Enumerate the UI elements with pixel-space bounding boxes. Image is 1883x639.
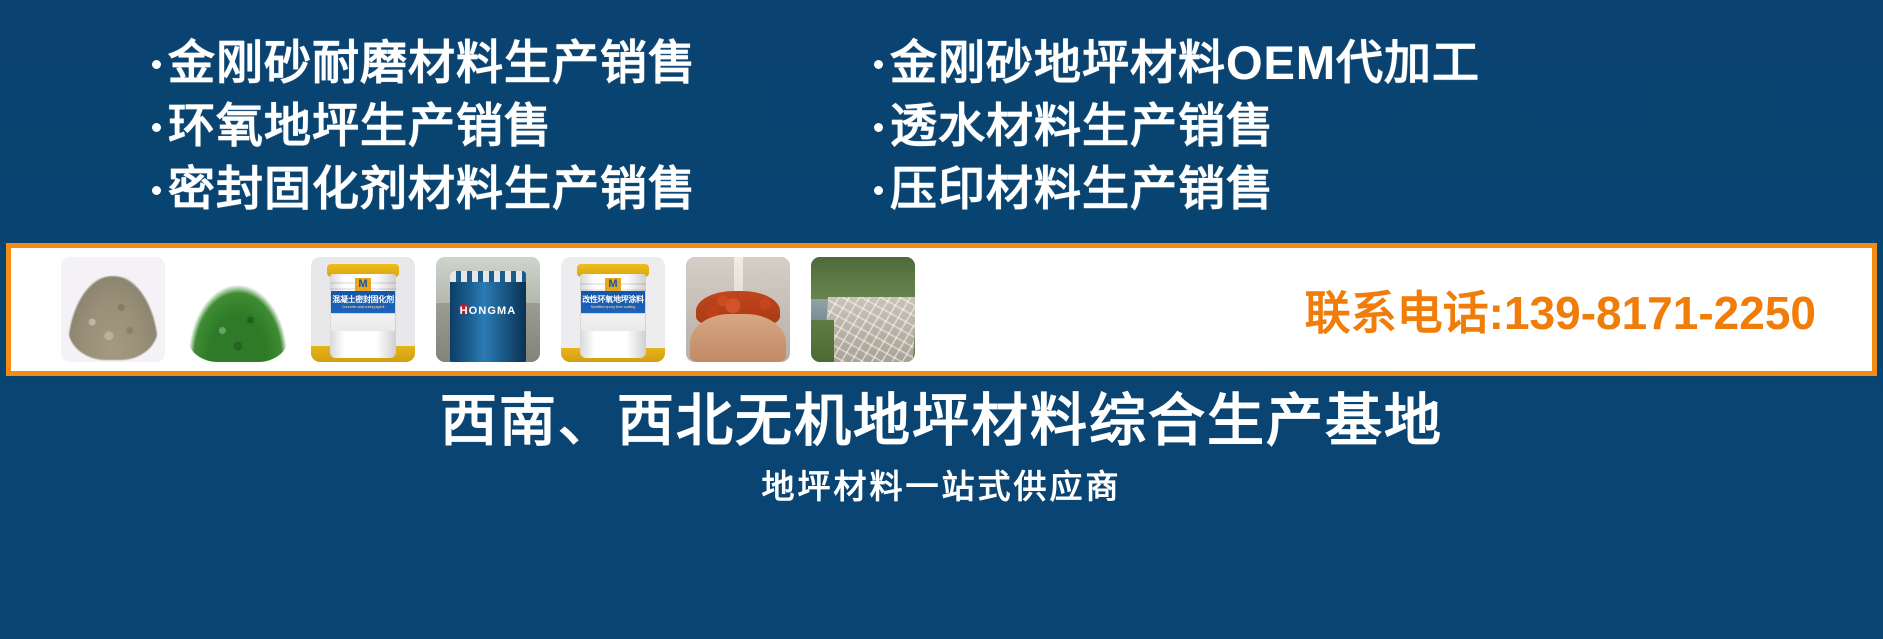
pail-label-en: Modified epoxy floor coating [581,304,645,309]
product-thumbnail-red-aggregate [686,257,790,362]
hand-shape [690,314,786,362]
service-item: 环氧地坪生产销售 [152,97,852,154]
drum-brand-label: HONGMA [450,305,526,317]
service-item: 金刚砂耐磨材料生产销售 [152,34,852,91]
pail-backdrop: M 混凝土密封固化剂 Concrete seal curing agent [311,257,415,362]
service-item: 金刚砂地坪材料OEM代加工 [874,34,1574,91]
brand-m-icon: M [355,278,371,291]
service-label: 密封固化剂材料生产销售 [168,160,696,217]
bullet-dot-icon [152,123,161,132]
service-item: 透水材料生产销售 [874,97,1574,154]
bullet-dot-icon [152,186,161,195]
pail-label: M 混凝土密封固化剂 Concrete seal curing agent [331,291,395,331]
product-thumbnail-paver-path [811,257,915,362]
brand-m-icon: M [605,278,621,291]
path-grass-edge [811,320,834,362]
banner-headline: 西南、西北无机地坪材料综合生产基地 [0,385,1883,457]
banner-subheadline: 地坪材料一站式供应商 [0,466,1883,508]
drum-rim [450,271,526,282]
service-label: 透水材料生产销售 [890,97,1274,154]
paver-path-surface [823,297,915,362]
service-label: 金刚砂耐磨材料生产销售 [168,34,696,91]
bullet-dot-icon [874,186,883,195]
services-bullet-lists: 金刚砂耐磨材料生产销售 环氧地坪生产销售 密封固化剂材料生产销售 金刚砂地坪材料… [0,34,1883,229]
product-thumbnail-sealer-pail: M 混凝土密封固化剂 Concrete seal curing agent [311,257,415,362]
services-right-column: 金刚砂地坪材料OEM代加工 透水材料生产销售 压印材料生产销售 [874,34,1574,229]
product-thumbnail-green-powder [186,257,290,362]
bullet-dot-icon [152,60,161,69]
product-strip: M 混凝土密封固化剂 Concrete seal curing agent HO… [6,243,1877,376]
powder-grain-texture [61,257,165,362]
service-label: 金刚砂地坪材料OEM代加工 [890,34,1480,91]
product-thumbnail-hongma-drum: HONGMA [436,257,540,362]
contact-phone[interactable]: 联系电话:139-8171-2250 [1305,277,1816,343]
service-label: 压印材料生产销售 [890,160,1274,217]
bullet-dot-icon [874,123,883,132]
powder-grain-texture [186,257,290,362]
service-label: 环氧地坪生产销售 [168,97,552,154]
product-thumbnail-list: M 混凝土密封固化剂 Concrete seal curing agent HO… [61,257,915,362]
drum-shape: HONGMA [450,271,526,362]
product-thumbnail-epoxy-pail: M 改性环氧地坪涂料 Modified epoxy floor coating [561,257,665,362]
pail-backdrop: M 改性环氧地坪涂料 Modified epoxy floor coating [561,257,665,362]
pail-label-en: Concrete seal curing agent [331,304,395,309]
service-item: 压印材料生产销售 [874,160,1574,217]
promotional-banner: 金刚砂耐磨材料生产销售 环氧地坪生产销售 密封固化剂材料生产销售 金刚砂地坪材料… [0,0,1883,639]
services-left-column: 金刚砂耐磨材料生产销售 环氧地坪生产销售 密封固化剂材料生产销售 [152,34,852,229]
product-thumbnail-grey-powder [61,257,165,362]
service-item: 密封固化剂材料生产销售 [152,160,852,217]
pail-label: M 改性环氧地坪涂料 Modified epoxy floor coating [581,291,645,331]
bullet-dot-icon [874,60,883,69]
